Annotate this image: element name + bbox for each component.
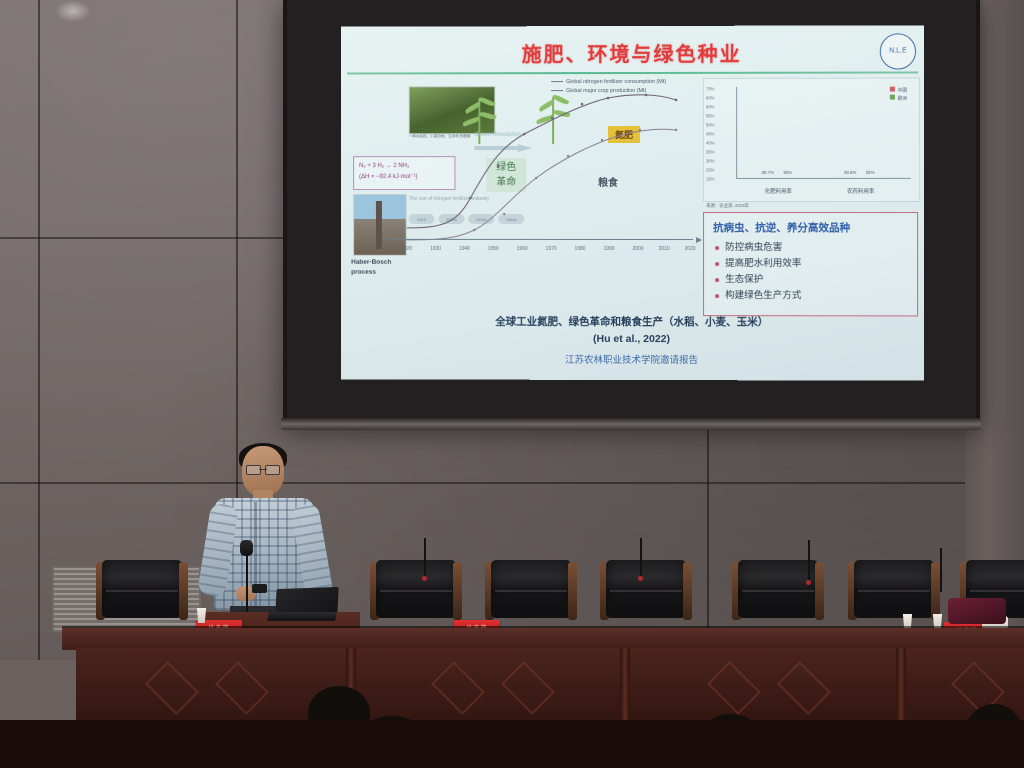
x-tick: 1950 bbox=[488, 246, 499, 252]
screen-roller-bar bbox=[281, 418, 981, 430]
line-chart-x-axis bbox=[389, 239, 693, 240]
bar-category-label: 农药利用率 bbox=[847, 187, 874, 195]
x-tick: 2020 bbox=[684, 246, 695, 252]
y-tick: 60% bbox=[706, 95, 714, 100]
key-point-item: 生态保护 bbox=[713, 272, 908, 288]
bar-chart-source: 来源：农业部, 2016年 bbox=[706, 203, 749, 209]
wall-seam bbox=[0, 237, 300, 239]
table-microphone-stem bbox=[424, 538, 426, 578]
caption-line-1: 全球工业氮肥、绿色革命和粮食生产（水稻、小麦、玉米） bbox=[341, 314, 924, 332]
x-tick: 2010 bbox=[658, 246, 669, 252]
table-microphone-stem bbox=[940, 548, 942, 592]
legend-label-china: 中国 bbox=[898, 88, 907, 93]
key-points-heading: 抗病虫、抗逆、养分高效品种 bbox=[713, 220, 908, 235]
line-chart: Global nitrogen fertilizer consumption (… bbox=[347, 78, 701, 268]
table-microphone-head-icon bbox=[638, 576, 643, 581]
y-tick: 60% bbox=[706, 104, 714, 109]
y-tick: 70% bbox=[706, 86, 714, 91]
caption-line-2: (Hu et al., 2022) bbox=[341, 330, 924, 348]
bar-chart-plot-area: 38.7% 65% 38.8% 55% bbox=[736, 87, 911, 179]
x-tick: 1960 bbox=[517, 246, 528, 252]
bar-category-label: 化肥利用率 bbox=[765, 187, 792, 195]
x-axis-arrow-icon bbox=[696, 237, 702, 243]
y-tick: 50% bbox=[706, 122, 714, 127]
y-tick: 15% bbox=[706, 176, 714, 181]
slide-title: 施肥、环境与绿色种业 bbox=[341, 37, 924, 67]
presentation-clicker bbox=[252, 584, 267, 593]
y-tick: 25% bbox=[706, 167, 714, 172]
wall-seam bbox=[38, 0, 40, 660]
slide-canvas: 施肥、环境与绿色种业 N.L.E Global nitrogen fertili… bbox=[341, 25, 924, 380]
executive-chair bbox=[485, 560, 577, 624]
executive-chair bbox=[848, 560, 940, 624]
y-tick: 45% bbox=[706, 131, 714, 136]
y-tick: 35% bbox=[706, 149, 714, 154]
dais-panel-divider bbox=[620, 648, 630, 720]
x-tick: 2000 bbox=[632, 246, 643, 252]
bar-value: 55% bbox=[866, 170, 875, 175]
glasses-icon bbox=[246, 465, 280, 473]
lecture-hall-photo: 施肥、环境与绿色种业 N.L.E Global nitrogen fertili… bbox=[0, 0, 1024, 768]
x-tick: 1980 bbox=[574, 246, 585, 252]
key-points-box: 抗病虫、抗逆、养分高效品种 防控病虫危害 提高肥水利用效率 生态保护 构建绿色生… bbox=[703, 212, 918, 316]
dais-panel-divider bbox=[896, 648, 906, 720]
podium-microphone-icon bbox=[240, 540, 253, 556]
wall-seam bbox=[0, 482, 1024, 484]
bar-chart-legend: 中国 欧洲 bbox=[890, 87, 907, 103]
key-point-item: 提高肥水利用效率 bbox=[713, 256, 908, 272]
institution-logo: N.L.E bbox=[880, 33, 916, 69]
key-point-item: 防控病虫危害 bbox=[713, 240, 908, 256]
ceiling-light-reflection bbox=[55, 0, 91, 22]
table-microphone-stem bbox=[640, 538, 642, 578]
y-tick: 30% bbox=[706, 158, 714, 163]
utilization-bar-chart: 70% 60% 60% 55% 50% 45% 40% 35% 30% 25% … bbox=[703, 78, 920, 202]
executive-chair bbox=[370, 560, 462, 624]
table-microphone-head-icon bbox=[422, 576, 427, 581]
bar-value: 38.7% bbox=[761, 170, 773, 175]
bar-value: 65% bbox=[783, 170, 792, 175]
slide-caption: 全球工业氮肥、绿色革命和粮食生产（水稻、小麦、玉米） (Hu et al., 2… bbox=[341, 314, 924, 349]
key-point-item: 构建绿色生产方式 bbox=[713, 288, 908, 304]
table-microphone-head-icon bbox=[806, 580, 811, 585]
y-tick: 40% bbox=[706, 140, 714, 145]
dais-tabletop bbox=[62, 628, 1024, 650]
x-tick: 1930 bbox=[430, 246, 441, 252]
x-tick: 1940 bbox=[459, 246, 470, 252]
title-divider bbox=[347, 71, 918, 74]
executive-chair bbox=[600, 560, 692, 624]
y-tick: 55% bbox=[706, 113, 714, 118]
executive-chair bbox=[732, 560, 824, 624]
legend-label-europe: 欧洲 bbox=[898, 96, 907, 101]
x-tick: 1990 bbox=[603, 246, 614, 252]
slide-footer: 江苏农林职业技术学院邀请报告 bbox=[341, 351, 924, 366]
laptop-screen bbox=[275, 587, 339, 615]
foreground-shadow bbox=[0, 720, 1024, 768]
bar-value: 38.8% bbox=[844, 170, 857, 175]
table-microphone-stem bbox=[808, 540, 810, 582]
executive-chair bbox=[96, 560, 188, 624]
x-tick: 1920 bbox=[401, 246, 412, 252]
x-tick: 1970 bbox=[546, 246, 557, 252]
handbag bbox=[948, 598, 1006, 624]
laptop-keyboard bbox=[267, 612, 337, 621]
